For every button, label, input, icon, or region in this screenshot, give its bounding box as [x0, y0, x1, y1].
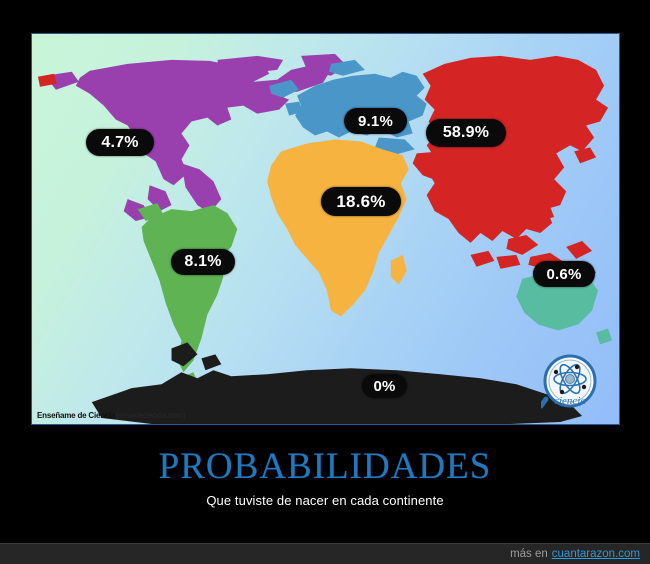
percent-label-antarctica: 0% — [362, 374, 407, 398]
footer-bar: más en cuantarazon.com — [0, 543, 650, 564]
region-africa — [267, 139, 409, 316]
caption-area: PROBABILIDADES Que tuviste de nacer en c… — [0, 440, 650, 528]
percent-label-south-america: 8.1% — [171, 249, 235, 275]
atom-logo-icon: ciencia — [541, 354, 603, 416]
watermark-url: (ensedeciencia.com) — [115, 411, 185, 420]
region-asia — [413, 56, 608, 279]
percent-label-europe: 9.1% — [344, 108, 407, 134]
world-map-svg — [32, 34, 619, 424]
page-title: PROBABILIDADES — [0, 440, 650, 487]
map-canvas: 4.7% 8.1% 9.1% 58.9% 18.6% 0.6% 0% Enseñ… — [32, 34, 619, 424]
footer-site-link[interactable]: cuantarazon.com — [552, 548, 640, 560]
percent-label-oceania: 0.6% — [533, 261, 595, 287]
svg-text:ciencia: ciencia — [554, 395, 586, 407]
percent-label-asia: 58.9% — [426, 119, 506, 147]
footer-prefix-label: más en — [510, 548, 548, 560]
percent-label-africa: 18.6% — [321, 187, 401, 216]
map-watermark: Enseñame de Ciencia(ensedeciencia.com) — [37, 411, 185, 420]
percent-label-north-america: 4.7% — [86, 129, 154, 156]
world-map: 4.7% 8.1% 9.1% 58.9% 18.6% 0.6% 0% Enseñ… — [31, 33, 620, 425]
page-subtitle: Que tuviste de nacer en cada continente — [0, 493, 650, 508]
watermark-brand: Enseñame de Ciencia — [37, 411, 115, 420]
poster: 4.7% 8.1% 9.1% 58.9% 18.6% 0.6% 0% Enseñ… — [0, 0, 650, 564]
